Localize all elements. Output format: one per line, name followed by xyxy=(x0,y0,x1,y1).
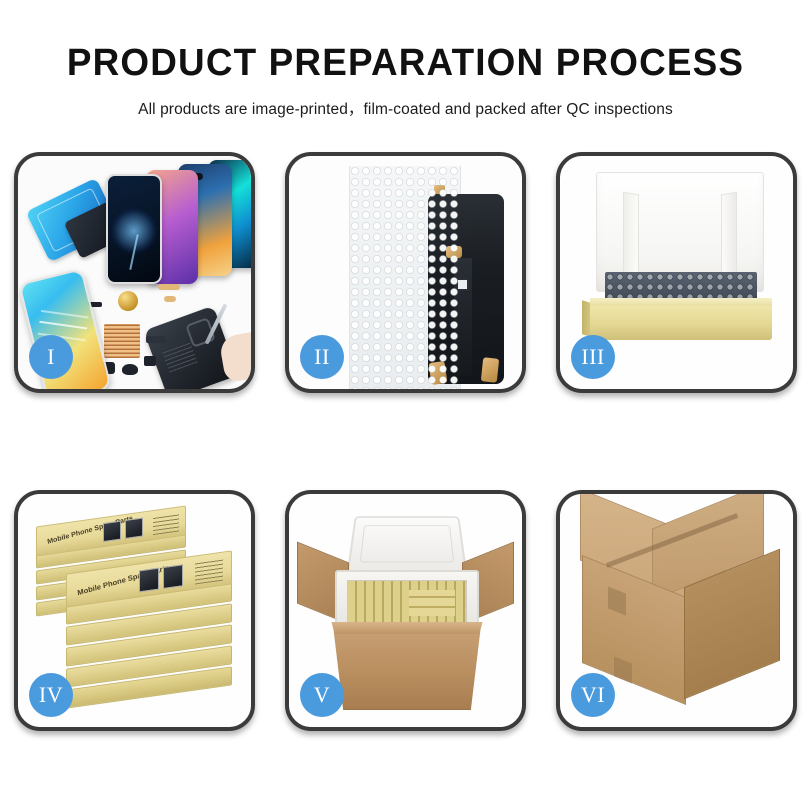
part-gold-flex xyxy=(164,296,176,302)
steps-grid: I II xyxy=(14,152,797,731)
part-speaker xyxy=(122,364,138,375)
box-window-image xyxy=(163,564,183,589)
part-gold-flex xyxy=(158,284,180,290)
step-panel-2[interactable]: II xyxy=(285,152,526,393)
step-badge-1: I xyxy=(29,335,73,379)
box-spec-text xyxy=(195,559,223,585)
header: PRODUCT PREPARATION PROCESS All products… xyxy=(0,44,811,119)
box-spec-text xyxy=(153,512,179,535)
phone-black-glass xyxy=(106,174,162,284)
box-window-image xyxy=(103,521,121,543)
step-panel-5[interactable]: V xyxy=(285,490,526,731)
step-panel-3[interactable]: III xyxy=(556,152,797,393)
step-panel-4[interactable]: Mobile Phone Spare Parts Mobile Phone Sp… xyxy=(14,490,255,731)
step-badge-2: II xyxy=(300,335,344,379)
packed-yellow-boxes xyxy=(347,580,467,626)
step-badge-5: V xyxy=(300,673,344,717)
gold-coil-part xyxy=(118,291,138,311)
step-badge-6: VI xyxy=(571,673,615,717)
step-badge-3: III xyxy=(571,335,615,379)
page-subtitle: All products are image-printed，film-coat… xyxy=(0,97,811,119)
bubble-texture xyxy=(350,166,460,389)
step-badge-4: IV xyxy=(29,673,73,717)
step-panel-1[interactable]: I xyxy=(14,152,255,393)
part-flex-cable xyxy=(146,336,166,343)
step-panel-6[interactable]: VI xyxy=(556,490,797,731)
product-preparation-infographic: PRODUCT PREPARATION PROCESS All products… xyxy=(0,0,811,811)
bubble-wrap-bag xyxy=(349,166,461,389)
box-window-image xyxy=(139,568,159,593)
carton-rim xyxy=(323,622,491,634)
foam-lid xyxy=(347,516,468,574)
copper-mesh-grid xyxy=(104,324,140,358)
page-title: PRODUCT PREPARATION PROCESS xyxy=(12,44,799,84)
gold-contact xyxy=(481,357,499,383)
box-window-image xyxy=(125,518,143,540)
part-chip xyxy=(144,356,156,366)
packed-yellow-boxes-row2 xyxy=(409,590,455,616)
shipping-carton-open xyxy=(323,626,491,710)
kraft-box-base xyxy=(590,306,772,340)
